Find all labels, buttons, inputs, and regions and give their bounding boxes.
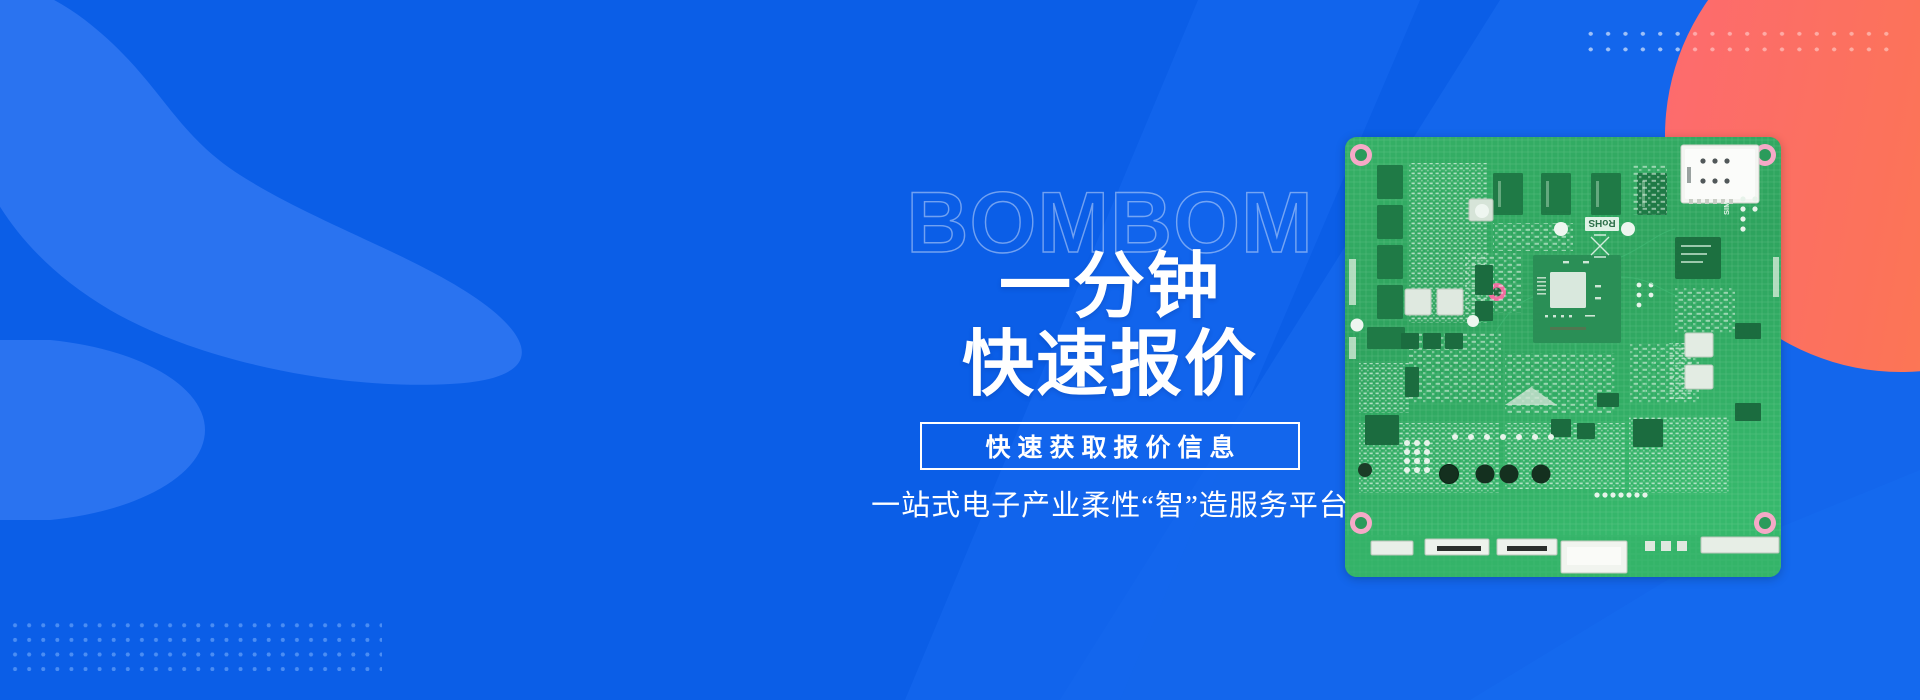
dot-grid-top-right-overlay	[1582, 26, 1894, 56]
pcb-flash-chip	[1675, 237, 1721, 279]
pcb-illustration: RoHS	[1345, 137, 1781, 577]
pcb-main-processor	[1533, 255, 1621, 343]
pcb-sim-label: SIM	[1722, 202, 1731, 215]
pcb-circuit-board-image: RoHS	[1345, 137, 1781, 577]
decorative-blob-large	[0, 0, 570, 390]
decorative-blob-small	[0, 340, 210, 520]
pcb-sim-slot	[1681, 145, 1759, 204]
promo-banner: RoHS	[0, 0, 1920, 700]
get-quote-button[interactable]: 快速获取报价信息	[920, 422, 1300, 470]
dot-grid-bottom-left	[8, 618, 382, 680]
headline-line-2: 快速报价	[860, 326, 1360, 404]
banner-copy-block: BOMBOM 一分钟 快速报价 快速获取报价信息 一站式电子产业柔性“智”造服务…	[860, 180, 1360, 524]
tagline: 一站式电子产业柔性“智”造服务平台	[860, 482, 1360, 524]
svg-text:RoHS: RoHS	[1588, 217, 1616, 228]
headline-line-1: 一分钟	[860, 248, 1360, 326]
dot-grid-top-right	[1582, 26, 1894, 56]
